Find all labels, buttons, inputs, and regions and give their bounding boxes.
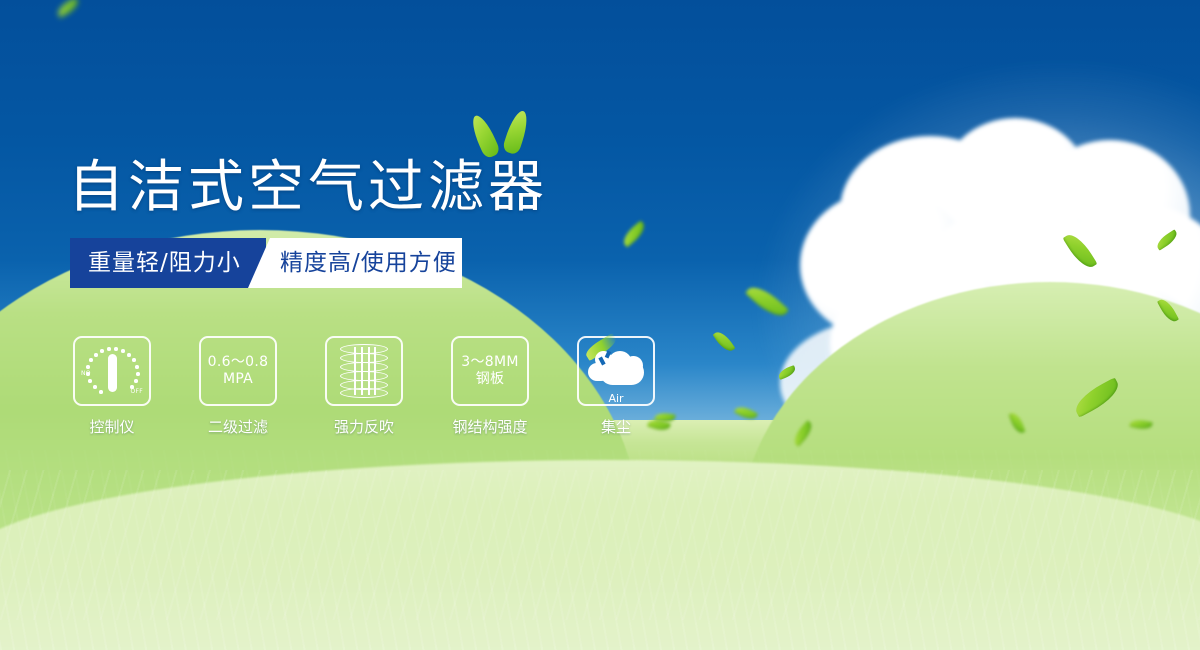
feature-icon-box: Air bbox=[577, 336, 655, 406]
filter-stack-icon bbox=[340, 344, 388, 398]
feature-label: 钢结构强度 bbox=[452, 416, 527, 437]
subtitle-right-text: 精度高/使用方便 bbox=[280, 238, 457, 288]
feature-icon-box: NO OFF bbox=[73, 336, 151, 406]
product-hero-banner: 自洁式空气过滤器 重量轻/阻力小 精度高/使用方便 bbox=[0, 0, 1200, 650]
feature-label: 集尘 bbox=[601, 416, 631, 437]
feature-list: NO OFF 控制仪 0.6～0.8 MPA 二级过滤 bbox=[70, 336, 658, 437]
subtitle-bar: 重量轻/阻力小 精度高/使用方便 bbox=[70, 238, 462, 288]
pressure-value-line1: 0.6～0.8 bbox=[208, 354, 269, 371]
feature-label: 强力反吹 bbox=[334, 416, 394, 437]
feature-icon-box: 3～8MM 钢板 bbox=[451, 336, 529, 406]
grass-texture-secondary bbox=[0, 470, 1200, 620]
gauge-label-off: OFF bbox=[130, 388, 143, 395]
air-label: Air bbox=[586, 392, 646, 405]
grass-field bbox=[0, 420, 1200, 650]
page-title: 自洁式空气过滤器 bbox=[68, 142, 548, 223]
gauge-dial-icon: NO OFF bbox=[81, 343, 143, 399]
feature-icon-box bbox=[325, 336, 403, 406]
gauge-needle bbox=[108, 354, 117, 392]
steel-thickness-line1: 3～8MM bbox=[461, 354, 518, 371]
gauge-label-no: NO bbox=[81, 370, 91, 377]
feature-item-blowback[interactable]: 强力反吹 bbox=[322, 336, 406, 437]
feature-item-control-gauge[interactable]: NO OFF 控制仪 bbox=[70, 336, 154, 437]
feature-label: 二级过滤 bbox=[208, 416, 268, 437]
feature-item-pressure[interactable]: 0.6～0.8 MPA 二级过滤 bbox=[196, 336, 280, 437]
feature-item-dust-collection[interactable]: Air 集尘 bbox=[574, 336, 658, 437]
feature-icon-box: 0.6～0.8 MPA bbox=[199, 336, 277, 406]
cloud-body bbox=[600, 359, 644, 385]
subtitle-left-text: 重量轻/阻力小 bbox=[88, 238, 241, 288]
air-cloud-icon: Air bbox=[586, 345, 646, 397]
feature-item-steel-plate[interactable]: 3～8MM 钢板 钢结构强度 bbox=[448, 336, 532, 437]
pressure-value-line2: MPA bbox=[223, 371, 253, 388]
feature-label: 控制仪 bbox=[89, 416, 134, 437]
steel-thickness-line2: 钢板 bbox=[476, 371, 505, 388]
